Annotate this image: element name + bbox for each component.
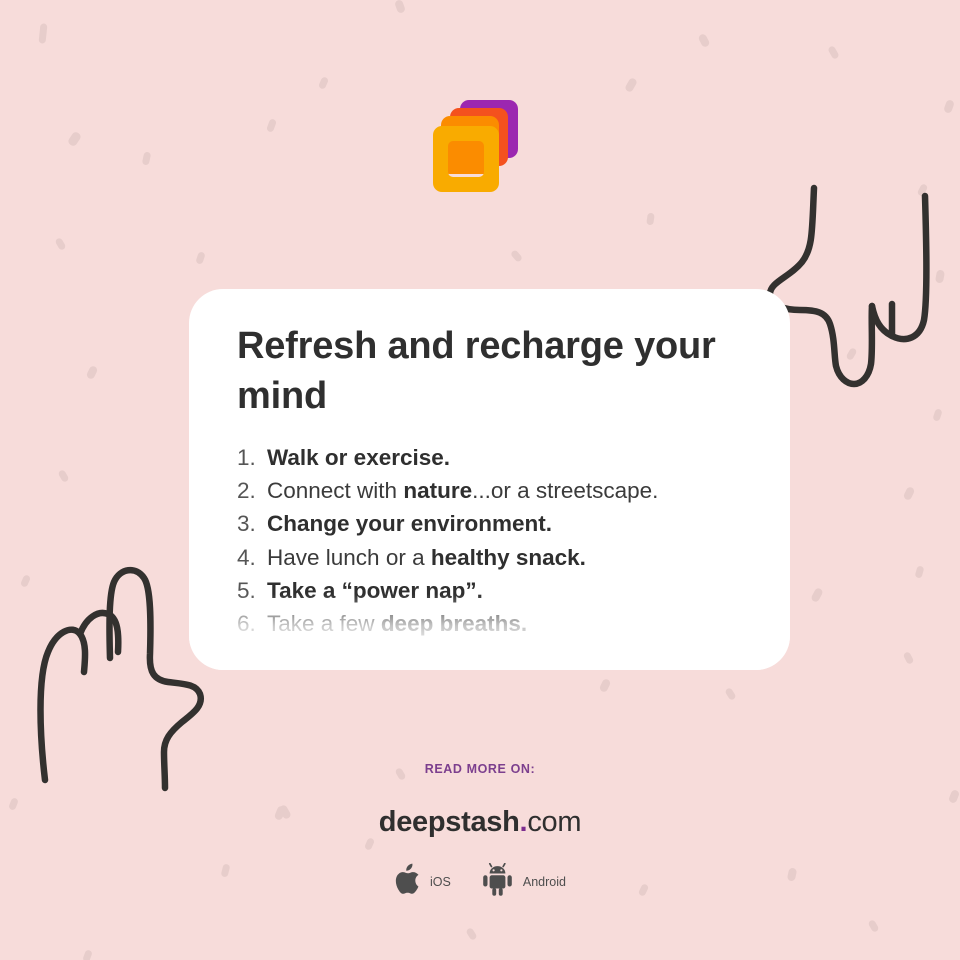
wordmark-tld: com (527, 806, 581, 838)
confetti-speck (394, 0, 406, 14)
confetti-speck (195, 251, 205, 265)
confetti-speck (827, 45, 840, 60)
confetti-speck (867, 919, 879, 933)
confetti-speck (935, 269, 945, 283)
ios-store-label: iOS (430, 875, 451, 889)
confetti-speck (67, 131, 82, 148)
list-item-text: Walk or exercise. (267, 441, 450, 474)
confetti-speck (917, 183, 929, 197)
confetti-speck (914, 565, 924, 578)
confetti-speck (20, 574, 31, 588)
confetti-speck (57, 469, 69, 483)
apple-icon (394, 863, 421, 901)
wordmark-name: deepstash (379, 806, 520, 838)
list-item-number: 6. (237, 607, 267, 640)
list-item-text: Change your environment. (267, 507, 552, 540)
list-item-text: Connect with nature...or a streetscape. (267, 474, 658, 507)
android-icon (481, 863, 514, 901)
android-store-label: Android (523, 875, 566, 889)
list-item: 4.Have lunch or a healthy snack. (189, 541, 790, 574)
idea-list: 1.Walk or exercise.2.Connect with nature… (189, 421, 790, 640)
confetti-speck (86, 365, 99, 380)
footer: READ MORE ON: deepstash.com iOS (0, 762, 960, 901)
list-item-number: 3. (237, 507, 267, 540)
confetti-speck (845, 347, 857, 361)
poster-canvas: Refresh and recharge your mind 1.Walk or… (0, 0, 960, 960)
confetti-speck (82, 949, 93, 960)
confetti-speck (724, 687, 736, 701)
read-more-label: READ MORE ON: (0, 762, 960, 776)
confetti-speck (943, 99, 955, 114)
ios-store-badge[interactable]: iOS (394, 863, 451, 901)
list-item: 5.Take a “power nap”. (189, 574, 790, 607)
android-store-badge[interactable]: Android (481, 863, 566, 901)
list-item-number: 1. (237, 441, 267, 474)
list-item: 2.Connect with nature...or a streetscape… (189, 474, 790, 507)
confetti-speck (903, 651, 915, 665)
confetti-speck (932, 408, 942, 422)
list-item-number: 5. (237, 574, 267, 607)
list-item: 6.Take a few deep breaths. (189, 607, 790, 640)
confetti-speck (38, 23, 47, 44)
idea-card-content: Refresh and recharge your mind 1.Walk or… (189, 289, 790, 640)
confetti-speck (697, 33, 710, 48)
idea-card[interactable]: Refresh and recharge your mind 1.Walk or… (189, 289, 790, 670)
confetti-speck (142, 151, 152, 165)
deepstash-wordmark[interactable]: deepstash.com (0, 806, 960, 839)
list-item-number: 2. (237, 474, 267, 507)
deepstash-logo-icon (424, 98, 524, 203)
confetti-speck (318, 76, 329, 90)
list-item-number: 4. (237, 541, 267, 574)
list-item-text: Take a “power nap”. (267, 574, 483, 607)
confetti-speck (510, 249, 523, 263)
page-title: Refresh and recharge your mind (189, 289, 790, 421)
list-item: 3.Change your environment. (189, 507, 790, 540)
confetti-speck (266, 118, 277, 133)
confetti-speck (54, 237, 66, 251)
confetti-speck (646, 213, 655, 226)
store-badges: iOS Android (0, 863, 960, 901)
list-item-text: Take a few deep breaths. (267, 607, 527, 640)
list-item: 1.Walk or exercise. (189, 441, 790, 474)
confetti-speck (465, 927, 477, 941)
confetti-speck (810, 587, 824, 603)
list-item-text: Have lunch or a healthy snack. (267, 541, 586, 574)
confetti-speck (624, 77, 638, 93)
confetti-speck (903, 486, 916, 501)
confetti-speck (599, 678, 612, 693)
